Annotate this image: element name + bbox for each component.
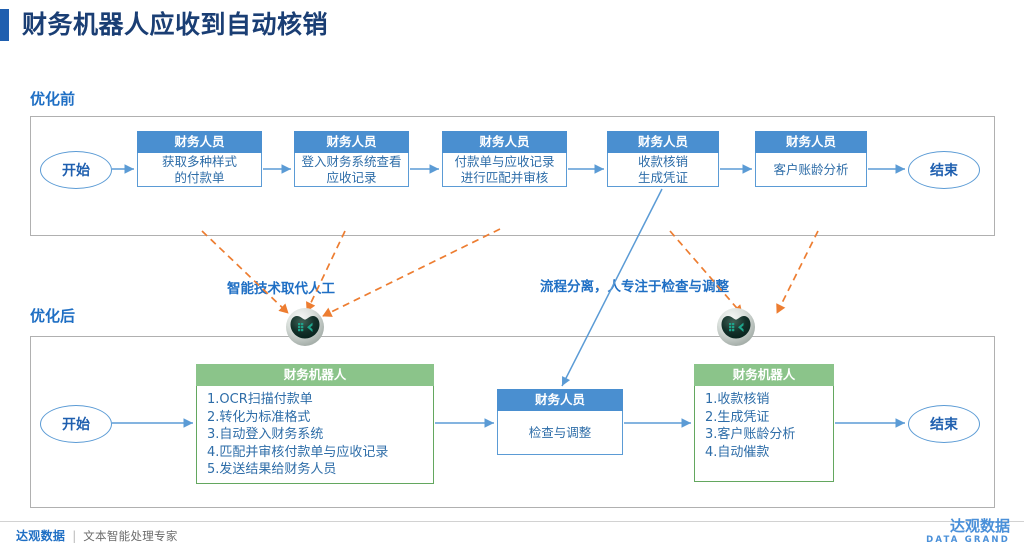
page-title: 财务机器人应收到自动核销 [0,8,328,42]
before-step-2-line-1: 登入财务系统查看 [301,154,401,169]
footer-logo: 达观数据 DATA GRAND [926,518,1010,546]
before-end-label: 结束 [930,160,958,180]
before-step-4-role: 财务人员 [607,131,719,153]
after-step-robot-2-item-3: 3.客户账龄分析 [705,426,795,444]
after-start-node[interactable]: 开始 [40,405,112,443]
after-end-label: 结束 [930,414,958,434]
before-step-2-task: 登入财务系统查看 应收记录 [294,153,409,187]
before-step-3-role: 财务人员 [442,131,567,153]
before-step-5[interactable]: 财务人员 客户账龄分析 [755,131,867,187]
before-step-4-line-1: 收款核销 [638,154,688,169]
before-step-3-line-1: 付款单与应收记录 [454,154,554,169]
before-step-4-line-2: 生成凭证 [638,170,688,185]
footer-logo-en: DATA GRAND [926,535,1010,546]
before-step-1-task: 获取多种样式 的付款单 [137,153,262,187]
before-step-1-line-2: 的付款单 [174,170,224,185]
after-step-robot-1-tasks: 1.OCR扫描付款单 2.转化为标准格式 3.自动登入财务系统 4.匹配并审核付… [196,386,434,484]
after-step-robot-2-item-4: 4.自动催款 [705,444,795,462]
before-step-2[interactable]: 财务人员 登入财务系统查看 应收记录 [294,131,409,187]
page-title-text: 财务机器人应收到自动核销 [22,9,328,41]
after-step-robot-2-item-1: 1.收款核销 [705,391,795,409]
section-label-after: 优化后 [30,305,75,326]
before-end-node[interactable]: 结束 [908,151,980,189]
footer-brand: 达观数据 [16,527,65,544]
before-start-label: 开始 [62,160,90,180]
after-step-robot-1-item-1: 1.OCR扫描付款单 [207,391,388,409]
after-step-human-task: 检查与调整 [497,411,623,455]
footer-separator: | [72,529,76,543]
before-step-2-line-2: 应收记录 [326,170,376,185]
before-step-5-role: 财务人员 [755,131,867,153]
footer-left: 达观数据 | 文本智能处理专家 [16,527,178,544]
after-start-label: 开始 [62,414,90,434]
before-step-4[interactable]: 财务人员 收款核销 生成凭证 [607,131,719,187]
before-step-1-role: 财务人员 [137,131,262,153]
after-step-robot-1[interactable]: 财务机器人 1.OCR扫描付款单 2.转化为标准格式 3.自动登入财务系统 4.… [196,364,434,482]
footer-logo-cn: 达观数据 [926,518,1010,535]
after-step-human-item-1: 检查与调整 [529,425,592,440]
before-step-1-line-1: 获取多种样式 [162,154,237,169]
section-label-before: 优化前 [30,88,75,109]
before-step-5-task: 客户账龄分析 [755,153,867,187]
before-step-3-line-2: 进行匹配并审核 [461,170,549,185]
before-start-node[interactable]: 开始 [40,151,112,189]
after-step-robot-1-item-4: 4.匹配并审核付款单与应收记录 [207,444,388,462]
after-step-robot-1-item-2: 2.转化为标准格式 [207,409,388,427]
before-step-5-line-1: 客户账龄分析 [773,162,848,177]
after-step-robot-2-tasks: 1.收款核销 2.生成凭证 3.客户账龄分析 4.自动催款 [694,386,834,482]
before-step-1[interactable]: 财务人员 获取多种样式 的付款单 [137,131,262,187]
footer-divider [0,521,1024,522]
callout-right: 流程分离，人专注于检查与调整 [540,275,729,295]
after-step-human-role: 财务人员 [497,389,623,411]
after-step-robot-1-item-5: 5.发送结果给财务人员 [207,461,388,479]
before-step-4-task: 收款核销 生成凭证 [607,153,719,187]
slide-canvas: 财务机器人应收到自动核销 优化前 优化后 开始 财务人员 获取多种样式 的付款单… [0,0,1024,555]
after-step-robot-2[interactable]: 财务机器人 1.收款核销 2.生成凭证 3.客户账龄分析 4.自动催款 [694,364,834,482]
robot-icon-left [285,307,325,347]
before-step-3-task: 付款单与应收记录 进行匹配并审核 [442,153,567,187]
callout-left: 智能技术取代人工 [227,277,335,297]
after-end-node[interactable]: 结束 [908,405,980,443]
title-accent-bar [0,9,9,41]
before-step-3[interactable]: 财务人员 付款单与应收记录 进行匹配并审核 [442,131,567,187]
after-step-robot-1-role: 财务机器人 [196,364,434,386]
after-step-robot-1-item-3: 3.自动登入财务系统 [207,426,388,444]
before-step-2-role: 财务人员 [294,131,409,153]
robot-icon-right [716,307,756,347]
after-step-robot-2-role: 财务机器人 [694,364,834,386]
after-step-robot-2-item-2: 2.生成凭证 [705,409,795,427]
footer-tagline: 文本智能处理专家 [83,528,177,544]
after-step-human[interactable]: 财务人员 检查与调整 [497,389,623,455]
